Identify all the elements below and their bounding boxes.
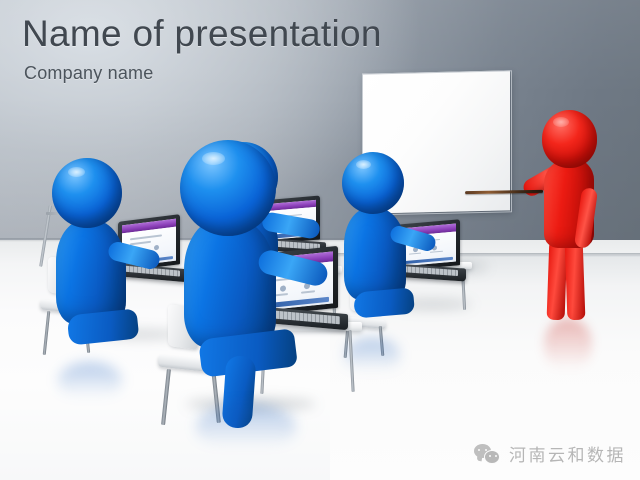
student-right-head [342,152,404,214]
presenter-reflection [544,318,592,370]
student-left-head-highlight [68,167,85,177]
page-title: Name of presentation [22,14,542,54]
student-left-head [52,158,122,228]
student-center-front [166,140,326,410]
student-cf-head-highlight [202,152,225,165]
presenter-head [542,110,597,168]
student-left-lap [67,308,140,345]
watermark-text: 河南云和数据 [509,441,626,466]
student-left [38,158,158,378]
presenter-leg-right [565,238,586,321]
wechat-icon [474,444,500,464]
student-left-torso [56,220,126,324]
student-left-reflection [58,362,122,398]
student-right-lap [353,287,415,318]
presenter-figure [520,110,600,320]
watermark: 河南云和数据 [474,441,626,466]
presentation-slide: Name of presentation Company name [0,0,640,480]
student-cf-head [180,140,276,236]
student-cf-reflection [196,404,296,448]
student-cf-torso [184,218,276,348]
student-right-head-highlight [356,160,371,169]
wechat-bubble-small [484,450,500,464]
presenter-head-highlight [553,117,569,127]
student-right-torso [344,208,406,300]
